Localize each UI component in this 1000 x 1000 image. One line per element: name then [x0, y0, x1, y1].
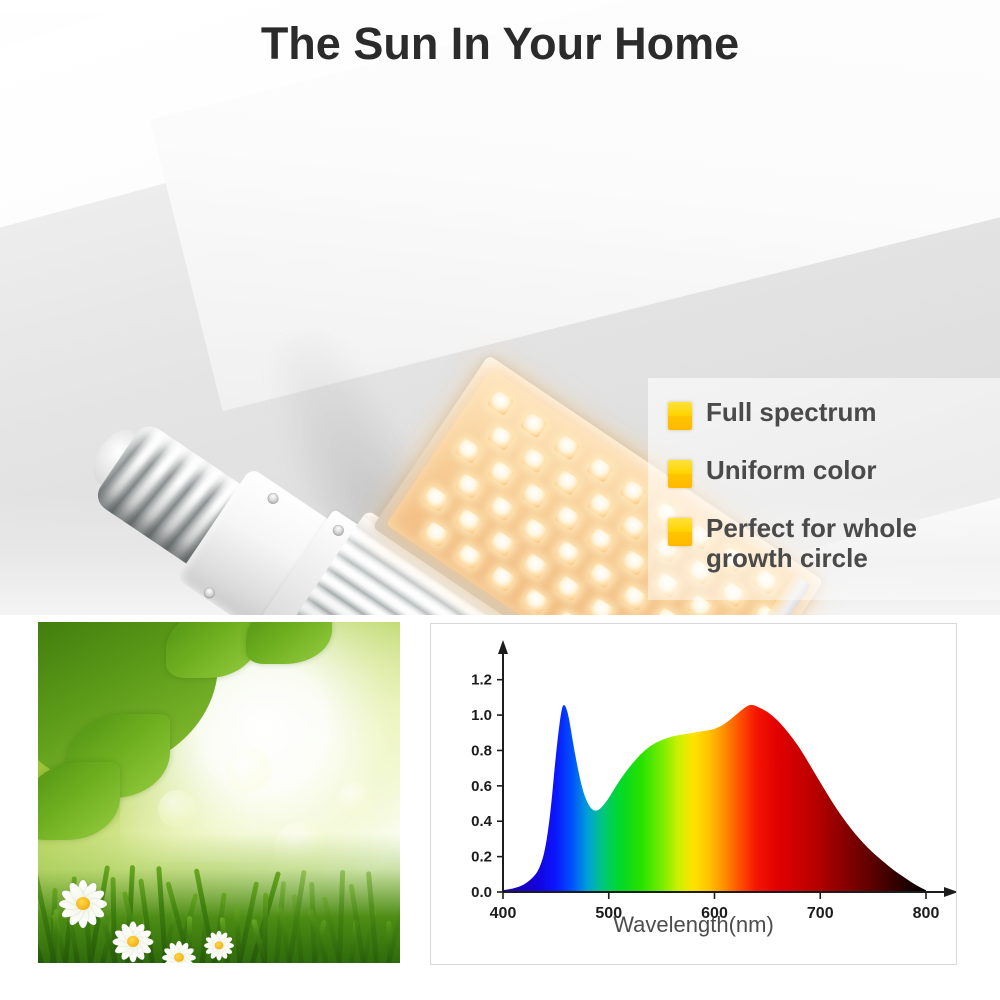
led-chip	[619, 479, 646, 506]
feature-item: Perfect for whole growth circle	[668, 514, 1000, 573]
daisy-center	[174, 953, 184, 962]
leaf	[38, 762, 120, 840]
svg-text:0.6: 0.6	[471, 778, 492, 795]
led-chip	[488, 530, 515, 557]
bullet-square-icon	[668, 518, 692, 546]
led-chip	[554, 540, 581, 567]
daisy-flower	[60, 880, 106, 926]
bokeh-circle	[158, 790, 196, 828]
led-chip	[587, 562, 614, 589]
feature-label: Perfect for whole growth circle	[706, 514, 986, 573]
daisy-center	[76, 897, 90, 910]
led-chip	[454, 437, 481, 464]
svg-text:0.8: 0.8	[471, 742, 492, 759]
svg-text:0.4: 0.4	[471, 813, 493, 830]
spectrum-plot: 0.00.20.40.60.81.01.2400500600700800	[431, 624, 956, 924]
product-marketing-image: The Sun In Your Home	[0, 0, 1000, 1000]
daisy-flower	[113, 921, 152, 960]
led-chip	[620, 514, 647, 541]
led-chip	[554, 575, 581, 602]
led-chip	[587, 492, 614, 519]
led-chip	[555, 610, 582, 615]
led-chip	[586, 456, 613, 483]
feature-item: Uniform color	[668, 456, 1000, 488]
feature-list: Full spectrumUniform colorPerfect for wh…	[668, 398, 1000, 599]
led-chip	[587, 527, 614, 554]
bokeh-circle	[226, 748, 272, 794]
led-chip	[521, 553, 548, 580]
led-chip	[455, 508, 482, 535]
daisy-center	[215, 941, 224, 949]
spectrum-chart: 0.00.20.40.60.81.01.2400500600700800 Wav…	[430, 623, 957, 965]
led-chip	[422, 521, 449, 548]
feature-label: Uniform color	[706, 456, 876, 486]
svg-text:1.0: 1.0	[471, 707, 492, 724]
hero-section: The Sun In Your Home	[0, 0, 1000, 615]
daisy-flower	[163, 941, 195, 963]
bokeh-circle	[338, 782, 372, 816]
led-chip	[654, 607, 681, 615]
led-chip	[588, 597, 615, 615]
led-chip	[553, 434, 580, 461]
led-chip	[620, 549, 647, 576]
led-chip	[522, 588, 549, 615]
grass-blade	[386, 921, 392, 963]
svg-text:0.0: 0.0	[471, 884, 492, 901]
nature-photo	[38, 622, 400, 963]
led-chip	[487, 460, 514, 487]
page-title: The Sun In Your Home	[0, 18, 1000, 70]
daisy-center	[127, 936, 139, 947]
chart-x-axis-label: Wavelength(nm)	[431, 912, 956, 938]
led-chip	[489, 565, 516, 592]
led-chip	[487, 389, 514, 416]
led-chip	[488, 495, 515, 522]
led-chip	[521, 517, 548, 544]
led-chip	[620, 585, 647, 612]
feature-item: Full spectrum	[668, 398, 1000, 430]
led-chip	[554, 505, 581, 532]
feature-label: Full spectrum	[706, 398, 876, 428]
led-chip	[553, 469, 580, 496]
bullet-square-icon	[668, 402, 692, 430]
led-chip	[487, 425, 514, 452]
led-chip	[521, 482, 548, 509]
svg-text:1.2: 1.2	[471, 672, 492, 689]
led-chip	[422, 486, 449, 513]
led-chip	[455, 543, 482, 570]
daisy-flower	[205, 931, 234, 960]
led-chip	[520, 412, 547, 439]
led-chip	[455, 473, 482, 500]
led-chip	[520, 447, 547, 474]
svg-text:0.2: 0.2	[471, 849, 492, 866]
bullet-square-icon	[668, 460, 692, 488]
